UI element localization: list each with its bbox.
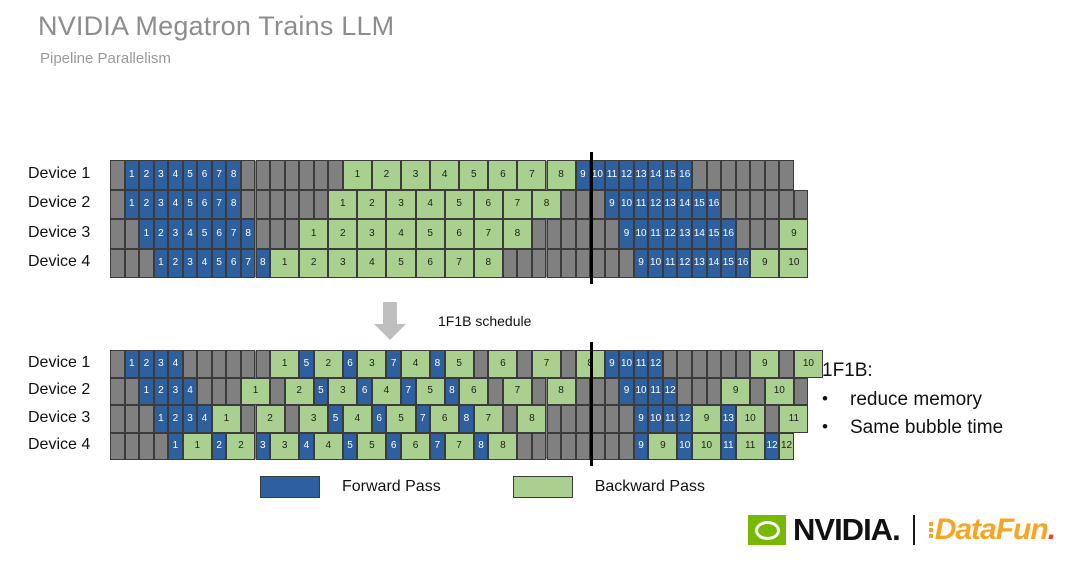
nvidia-wordmark: NVIDIA <box>793 512 892 548</box>
forward-cell: 12 <box>765 433 780 461</box>
bubble-cell <box>226 350 241 378</box>
forward-cell: 7 <box>416 405 431 433</box>
bubble-cell <box>561 433 576 461</box>
forward-cell: 1 <box>125 160 140 190</box>
bubble-cell <box>692 378 707 406</box>
device-label-2: Device 2 <box>28 194 90 212</box>
bubble-cell <box>285 190 300 220</box>
forward-cell: 13 <box>663 190 678 220</box>
notes-heading: 1F1B: <box>822 360 1072 382</box>
bubble-cell <box>212 350 227 378</box>
backward-cell: 9 <box>721 378 750 406</box>
backward-cell: 10 <box>736 405 765 433</box>
forward-cell: 5 <box>183 190 198 220</box>
forward-cell: 10 <box>634 219 649 249</box>
forward-cell: 16 <box>721 219 736 249</box>
bubble-cell <box>561 405 576 433</box>
bubble-cell <box>328 160 343 190</box>
forward-cell: 3 <box>168 378 183 406</box>
bubble-cell <box>721 190 736 220</box>
backward-cell: 7 <box>445 433 474 461</box>
forward-cell: 7 <box>226 219 241 249</box>
forward-cell: 1 <box>125 350 140 378</box>
backward-cell: 9 <box>779 219 808 249</box>
forward-cell: 15 <box>721 249 736 279</box>
forward-cell: 5 <box>212 249 227 279</box>
backward-cell: 5 <box>445 350 474 378</box>
legend-label-backward: Backward Pass <box>595 478 705 496</box>
backward-cell: 5 <box>357 433 386 461</box>
backward-cell: 1 <box>270 249 299 279</box>
bubble-cell <box>779 350 794 378</box>
backward-cell: 12 <box>779 433 794 461</box>
forward-cell: 7 <box>241 249 256 279</box>
forward-cell: 9 <box>576 160 591 190</box>
bubble-cell <box>270 190 285 220</box>
forward-cell: 1 <box>168 433 183 461</box>
bubble-cell <box>125 219 140 249</box>
forward-cell: 12 <box>663 378 678 406</box>
bullet-icon: • <box>822 417 850 437</box>
bullet-icon: • <box>822 389 850 409</box>
bubble-cell <box>285 160 300 190</box>
bubble-cell <box>474 350 489 378</box>
arrow-label: 1F1B schedule <box>438 313 531 329</box>
forward-cell: 11 <box>634 190 649 220</box>
forward-cell: 6 <box>197 160 212 190</box>
bubble-cell <box>576 249 591 279</box>
backward-cell: 4 <box>372 378 401 406</box>
forward-cell: 16 <box>736 249 751 279</box>
forward-cell: 10 <box>648 249 663 279</box>
backward-cell: 11 <box>779 405 808 433</box>
backward-cell: 8 <box>547 378 576 406</box>
bubble-cell <box>212 378 227 406</box>
forward-cell: 3 <box>183 249 198 279</box>
forward-cell: 2 <box>139 350 154 378</box>
bubble-cell <box>576 190 591 220</box>
bubble-cell <box>532 378 547 406</box>
bubble-cell <box>576 405 591 433</box>
backward-cell: 5 <box>416 219 445 249</box>
backward-cell: 8 <box>474 249 503 279</box>
bubble-cell <box>736 219 751 249</box>
backward-cell: 9 <box>692 405 721 433</box>
backward-cell: 1 <box>183 433 212 461</box>
forward-cell: 4 <box>183 378 198 406</box>
backward-cell: 5 <box>386 249 415 279</box>
bubble-cell <box>721 160 736 190</box>
bubble-cell <box>125 433 140 461</box>
backward-cell: 10 <box>692 433 721 461</box>
forward-cell: 1 <box>139 219 154 249</box>
forward-cell: 12 <box>677 405 692 433</box>
backward-cell: 3 <box>401 160 430 190</box>
forward-cell: 3 <box>154 190 169 220</box>
forward-cell: 11 <box>605 160 620 190</box>
backward-cell: 6 <box>445 219 474 249</box>
backward-cell: 8 <box>517 405 546 433</box>
forward-cell: 1 <box>154 405 169 433</box>
bubble-cell <box>576 378 591 406</box>
bubble-cell <box>765 405 780 433</box>
bubble-cell <box>256 219 271 249</box>
backward-cell: 6 <box>474 190 503 220</box>
forward-cell: 11 <box>721 433 736 461</box>
forward-cell: 9 <box>605 190 620 220</box>
forward-cell: 15 <box>707 219 722 249</box>
bubble-cell <box>503 405 518 433</box>
nvidia-wordmark-dot: . <box>892 512 901 548</box>
bubble-cell <box>139 249 154 279</box>
bubble-cell <box>692 160 707 190</box>
backward-cell: 10 <box>779 249 808 279</box>
forward-cell: 5 <box>314 378 329 406</box>
bubble-cell <box>110 433 125 461</box>
note-text: Same bubble time <box>850 417 1003 439</box>
forward-cell: 2 <box>168 405 183 433</box>
bubble-cell <box>765 160 780 190</box>
forward-cell: 14 <box>692 219 707 249</box>
forward-cell: 2 <box>168 249 183 279</box>
bubble-cell <box>125 378 140 406</box>
bubble-cell <box>517 249 532 279</box>
bubble-cell <box>677 378 692 406</box>
backward-cell: 4 <box>430 160 459 190</box>
bubble-cell <box>256 160 271 190</box>
forward-cell: 7 <box>401 378 416 406</box>
datafun-word-text: DataFun <box>935 513 1048 546</box>
forward-cell: 13 <box>634 160 649 190</box>
bubble-cell <box>299 160 314 190</box>
forward-cell: 6 <box>212 219 227 249</box>
forward-cell: 4 <box>168 190 183 220</box>
forward-cell: 10 <box>634 378 649 406</box>
bubble-cell <box>314 190 329 220</box>
forward-cell: 1 <box>139 378 154 406</box>
forward-cell: 8 <box>430 350 445 378</box>
forward-cell: 12 <box>648 190 663 220</box>
backward-cell: 6 <box>488 160 517 190</box>
forward-cell: 8 <box>241 219 256 249</box>
bubble-cell <box>736 350 751 378</box>
bubble-cell <box>561 350 576 378</box>
forward-cell: 3 <box>154 160 169 190</box>
bubble-cell <box>561 219 576 249</box>
forward-cell: 2 <box>154 219 169 249</box>
backward-cell: 2 <box>372 160 401 190</box>
forward-cell: 11 <box>648 378 663 406</box>
legend: Forward Pass Backward Pass <box>260 476 705 498</box>
forward-cell: 12 <box>663 219 678 249</box>
forward-cell: 10 <box>677 433 692 461</box>
forward-cell: 8 <box>459 405 474 433</box>
forward-cell: 7 <box>430 433 445 461</box>
bubble-cell <box>241 350 256 378</box>
forward-cell: 10 <box>619 190 634 220</box>
forward-cell: 8 <box>445 378 460 406</box>
forward-cell: 9 <box>619 219 634 249</box>
device-label-4: Device 4 <box>28 253 90 271</box>
bubble-cell <box>125 249 140 279</box>
forward-cell: 9 <box>634 405 649 433</box>
backward-cell: 6 <box>459 378 488 406</box>
forward-cell: 6 <box>343 350 358 378</box>
bubble-cell <box>750 190 765 220</box>
backward-cell: 10 <box>765 378 794 406</box>
bubble-cell <box>547 249 562 279</box>
bubble-cell <box>619 433 634 461</box>
backward-cell: 3 <box>270 433 299 461</box>
logo-bar: NVIDIA . DataFun. <box>748 512 1055 548</box>
forward-cell: 1 <box>154 249 169 279</box>
forward-cell: 11 <box>663 249 678 279</box>
forward-cell: 12 <box>619 160 634 190</box>
bubble-cell <box>692 350 707 378</box>
bubble-cell <box>605 378 620 406</box>
forward-cell: 5 <box>343 433 358 461</box>
backward-cell: 2 <box>256 405 285 433</box>
bubble-cell <box>532 433 547 461</box>
forward-cell: 13 <box>721 405 736 433</box>
bubble-cell <box>270 160 285 190</box>
forward-cell: 8 <box>226 190 241 220</box>
bubble-cell <box>503 249 518 279</box>
backward-cell: 6 <box>488 350 517 378</box>
forward-cell: 9 <box>634 433 649 461</box>
bubble-cell <box>110 160 125 190</box>
bubble-cell <box>561 190 576 220</box>
backward-cell: 8 <box>488 433 517 461</box>
device-label-3: Device 3 <box>28 224 90 242</box>
bubble-cell <box>241 405 256 433</box>
bubble-cell <box>619 249 634 279</box>
logo-divider <box>913 515 915 545</box>
backward-cell: 8 <box>547 160 576 190</box>
datafun-wordmark: DataFun. <box>935 513 1055 547</box>
device-label-2: Device 2 <box>28 381 90 399</box>
bubble-cell <box>517 433 532 461</box>
time-marker-line <box>590 152 593 284</box>
page-title: NVIDIA Megatron Trains LLM <box>38 11 394 42</box>
backward-cell: 5 <box>416 378 445 406</box>
backward-cell: 1 <box>343 160 372 190</box>
bubble-cell <box>721 350 736 378</box>
bubble-cell <box>256 350 271 378</box>
page-subtitle: Pipeline Parallelism <box>40 50 171 67</box>
bubble-cell <box>707 378 722 406</box>
bubble-cell <box>110 219 125 249</box>
backward-cell: 9 <box>750 350 779 378</box>
forward-cell: 6 <box>386 433 401 461</box>
bubble-cell <box>547 219 562 249</box>
backward-cell: 1 <box>328 190 357 220</box>
backward-cell: 3 <box>299 405 328 433</box>
bubble-cell <box>241 190 256 220</box>
bubble-cell <box>285 405 300 433</box>
notes-panel: 1F1B: • reduce memory • Same bubble time <box>822 360 1072 445</box>
backward-cell: 7 <box>474 405 503 433</box>
forward-cell: 16 <box>707 190 722 220</box>
backward-cell: 2 <box>299 249 328 279</box>
bubble-cell <box>110 190 125 220</box>
bubble-cell <box>765 190 780 220</box>
bubble-cell <box>605 219 620 249</box>
backward-cell: 4 <box>314 433 343 461</box>
bubble-cell <box>677 350 692 378</box>
bubble-cell <box>779 190 794 220</box>
forward-cell: 6 <box>197 190 212 220</box>
backward-cell: 7 <box>445 249 474 279</box>
forward-cell: 14 <box>707 249 722 279</box>
bubble-cell <box>110 249 125 279</box>
forward-cell: 16 <box>677 160 692 190</box>
backward-cell: 5 <box>445 190 474 220</box>
forward-cell: 5 <box>183 160 198 190</box>
bubble-cell <box>794 378 809 406</box>
forward-cell: 9 <box>634 249 649 279</box>
forward-cell: 6 <box>226 249 241 279</box>
forward-cell: 15 <box>692 190 707 220</box>
forward-cell: 12 <box>677 249 692 279</box>
bubble-cell <box>314 160 329 190</box>
backward-cell: 2 <box>328 219 357 249</box>
bubble-cell <box>517 350 532 378</box>
forward-cell: 7 <box>212 190 227 220</box>
bubble-cell <box>750 219 765 249</box>
forward-cell: 1 <box>125 190 140 220</box>
backward-cell: 3 <box>357 219 386 249</box>
forward-cell: 13 <box>692 249 707 279</box>
bubble-cell <box>750 378 765 406</box>
bubble-cell <box>154 433 169 461</box>
backward-cell: 2 <box>357 190 386 220</box>
forward-cell: 14 <box>648 160 663 190</box>
bubble-cell <box>270 219 285 249</box>
backward-cell: 7 <box>503 378 532 406</box>
bubble-cell <box>285 219 300 249</box>
backward-cell: 6 <box>430 405 459 433</box>
backward-cell: 5 <box>386 405 415 433</box>
forward-cell: 4 <box>183 219 198 249</box>
bubble-cell <box>605 405 620 433</box>
forward-cell: 2 <box>154 378 169 406</box>
backward-cell: 6 <box>401 433 430 461</box>
backward-cell: 3 <box>328 378 357 406</box>
forward-cell: 13 <box>677 219 692 249</box>
legend-label-forward: Forward Pass <box>342 478 441 496</box>
bubble-cell <box>197 378 212 406</box>
note-text: reduce memory <box>850 389 982 411</box>
forward-cell: 2 <box>139 190 154 220</box>
forward-cell: 4 <box>168 350 183 378</box>
forward-cell: 11 <box>648 219 663 249</box>
forward-cell: 8 <box>256 249 271 279</box>
bubble-cell <box>765 219 780 249</box>
backward-cell: 7 <box>474 219 503 249</box>
bubble-cell <box>605 249 620 279</box>
backward-cell: 7 <box>532 350 561 378</box>
forward-cell: 14 <box>677 190 692 220</box>
bubble-cell <box>547 433 562 461</box>
device-label-1: Device 1 <box>28 165 90 183</box>
backward-cell: 3 <box>386 190 415 220</box>
bubble-cell <box>619 405 634 433</box>
forward-cell: 15 <box>663 160 678 190</box>
bubble-cell <box>736 190 751 220</box>
backward-cell: 1 <box>299 219 328 249</box>
forward-cell: 11 <box>663 405 678 433</box>
backward-cell: 9 <box>648 433 677 461</box>
forward-cell: 8 <box>226 160 241 190</box>
forward-cell: 4 <box>197 405 212 433</box>
bubble-cell <box>241 160 256 190</box>
backward-cell: 8 <box>532 190 561 220</box>
forward-cell: 6 <box>357 378 372 406</box>
forward-cell: 12 <box>648 350 663 378</box>
legend-swatch-forward <box>260 476 320 498</box>
bubble-cell <box>576 219 591 249</box>
forward-cell: 2 <box>139 160 154 190</box>
forward-cell: 10 <box>648 405 663 433</box>
forward-cell: 3 <box>256 433 271 461</box>
forward-cell: 6 <box>372 405 387 433</box>
device-label-4: Device 4 <box>28 436 90 454</box>
backward-cell: 4 <box>386 219 415 249</box>
forward-cell: 4 <box>168 160 183 190</box>
bubble-cell <box>110 405 125 433</box>
bubble-cell <box>139 433 154 461</box>
bubble-cell <box>197 350 212 378</box>
datafun-word-dot: . <box>1048 513 1055 546</box>
bubble-cell <box>226 378 241 406</box>
forward-cell: 5 <box>328 405 343 433</box>
forward-cell: 10 <box>619 350 634 378</box>
backward-cell: 8 <box>503 219 532 249</box>
forward-cell: 7 <box>386 350 401 378</box>
bubble-cell <box>110 350 125 378</box>
backward-cell: 3 <box>357 350 386 378</box>
bubble-cell <box>794 190 809 220</box>
bubble-cell <box>750 160 765 190</box>
bubble-cell <box>270 378 285 406</box>
time-marker-line <box>590 342 593 466</box>
device-label-3: Device 3 <box>28 409 90 427</box>
bubble-cell <box>547 405 562 433</box>
bubble-cell <box>299 190 314 220</box>
forward-cell: 11 <box>634 350 649 378</box>
bubble-cell <box>183 350 198 378</box>
backward-cell: 4 <box>416 190 445 220</box>
backward-cell: 2 <box>314 350 343 378</box>
bubble-cell <box>110 378 125 406</box>
forward-cell: 9 <box>605 350 620 378</box>
note-item-0: • reduce memory <box>822 389 1072 411</box>
backward-cell: 6 <box>416 249 445 279</box>
backward-cell: 7 <box>503 190 532 220</box>
bubble-cell <box>779 160 794 190</box>
forward-cell: 5 <box>197 219 212 249</box>
backward-cell: 5 <box>459 160 488 190</box>
forward-cell: 3 <box>183 405 198 433</box>
nvidia-eye-icon <box>748 515 786 545</box>
backward-cell: 1 <box>241 378 270 406</box>
backward-cell: 3 <box>328 249 357 279</box>
bubble-cell <box>707 350 722 378</box>
backward-cell: 2 <box>285 378 314 406</box>
forward-cell: 3 <box>168 219 183 249</box>
bubble-cell <box>532 219 547 249</box>
